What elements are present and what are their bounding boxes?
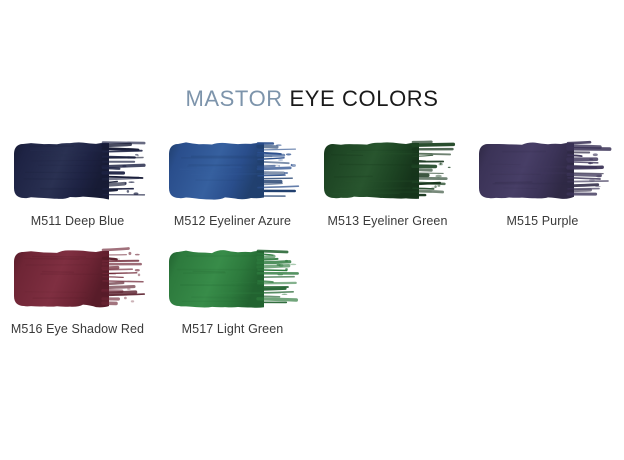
page-title-rest: EYE COLORS	[283, 86, 439, 111]
swatch-label-m511: M511 Deep Blue	[31, 214, 125, 228]
color-swatch-item-m515[interactable]: M515 Purple	[465, 138, 620, 228]
color-swatch-item-m513[interactable]: M513 Eyeliner Green	[310, 138, 465, 228]
brush-stroke-swatch-m512	[168, 138, 299, 202]
page-title: MASTOR EYE COLORS	[0, 88, 624, 110]
swatch-label-m513: M513 Eyeliner Green	[327, 214, 447, 228]
brush-stroke-swatch-m517	[168, 246, 299, 310]
brush-stroke-swatch-m516	[13, 246, 144, 310]
color-swatch-item-m517[interactable]: M517 Light Green	[155, 246, 310, 336]
brush-stroke-swatch-m511	[13, 138, 144, 202]
swatch-label-m515: M515 Purple	[507, 214, 579, 228]
swatch-label-m512: M512 Eyeliner Azure	[174, 214, 291, 228]
brush-stroke-swatch-m513	[323, 138, 454, 202]
color-swatch-item-m511[interactable]: M511 Deep Blue	[0, 138, 155, 228]
color-swatch-grid: M511 Deep BlueM512 Eyeliner AzureM513 Ey…	[0, 138, 624, 354]
brush-stroke-swatch-m515	[478, 138, 609, 202]
page-title-brand: MASTOR	[185, 86, 282, 111]
color-swatch-item-m516[interactable]: M516 Eye Shadow Red	[0, 246, 155, 336]
page-title-wrapper: MASTOR EYE COLORS	[0, 88, 624, 110]
swatch-label-m517: M517 Light Green	[182, 322, 284, 336]
color-swatch-item-m512[interactable]: M512 Eyeliner Azure	[155, 138, 310, 228]
swatch-label-m516: M516 Eye Shadow Red	[11, 322, 144, 336]
